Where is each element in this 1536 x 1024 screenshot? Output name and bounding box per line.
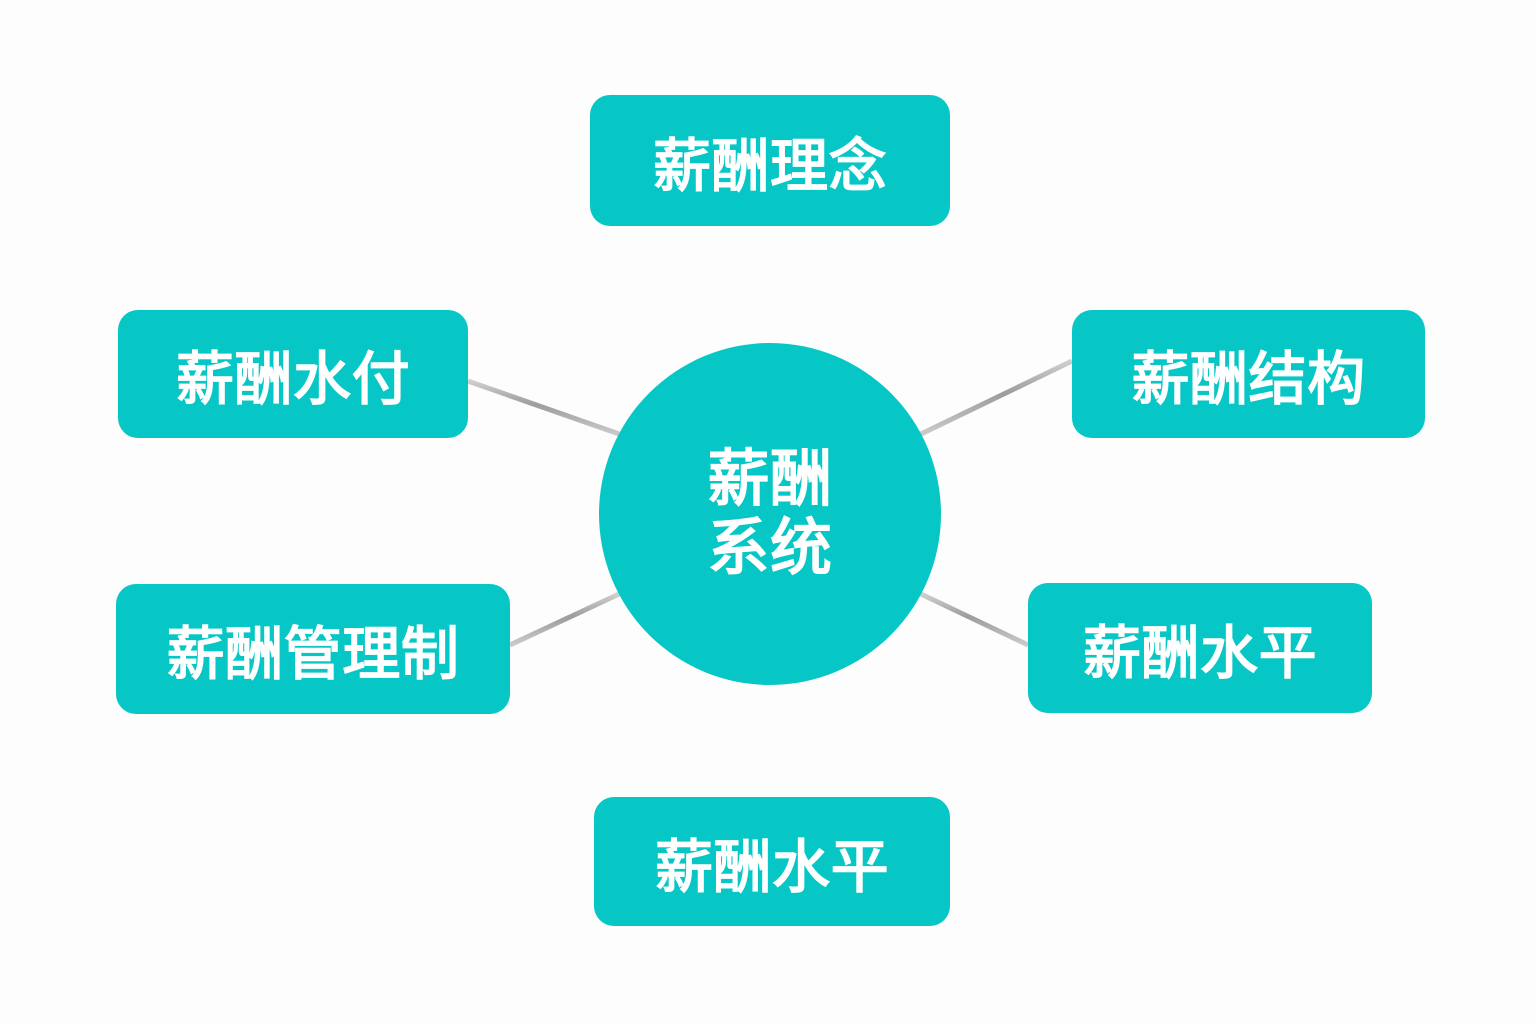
node-top-label: 薪酬理念 <box>653 119 887 203</box>
node-top-right[interactable]: 薪酬结构 <box>1072 310 1425 438</box>
connector-center-to-top-left <box>468 381 619 434</box>
center-node-label-line2: 系统 <box>707 514 832 583</box>
node-bottom[interactable]: 薪酬水平 <box>594 797 950 926</box>
node-bottom-left-label: 薪酬管理制 <box>167 607 460 691</box>
connector-center-to-top-right <box>921 361 1072 434</box>
node-bottom-right-label: 薪酬水平 <box>1083 606 1317 690</box>
center-node-label-line1: 薪酬 <box>707 445 832 514</box>
node-top[interactable]: 薪酬理念 <box>590 95 950 226</box>
node-top-right-label: 薪酬结构 <box>1131 332 1365 416</box>
node-top-left-label: 薪酬水付 <box>176 332 410 416</box>
node-bottom-right[interactable]: 薪酬水平 <box>1028 583 1372 713</box>
node-top-left[interactable]: 薪酬水付 <box>118 310 468 438</box>
center-node[interactable]: 薪酬 系统 <box>599 343 941 685</box>
connector-center-to-bottom-left <box>510 594 619 645</box>
connector-center-to-bottom-right <box>921 594 1028 645</box>
node-bottom-label: 薪酬水平 <box>655 820 889 904</box>
diagram-canvas: 薪酬理念 薪酬结构 薪酬水平 薪酬水平 薪酬管理制 薪酬水付 薪酬 系统 <box>0 0 1536 1024</box>
node-bottom-left[interactable]: 薪酬管理制 <box>116 584 510 714</box>
